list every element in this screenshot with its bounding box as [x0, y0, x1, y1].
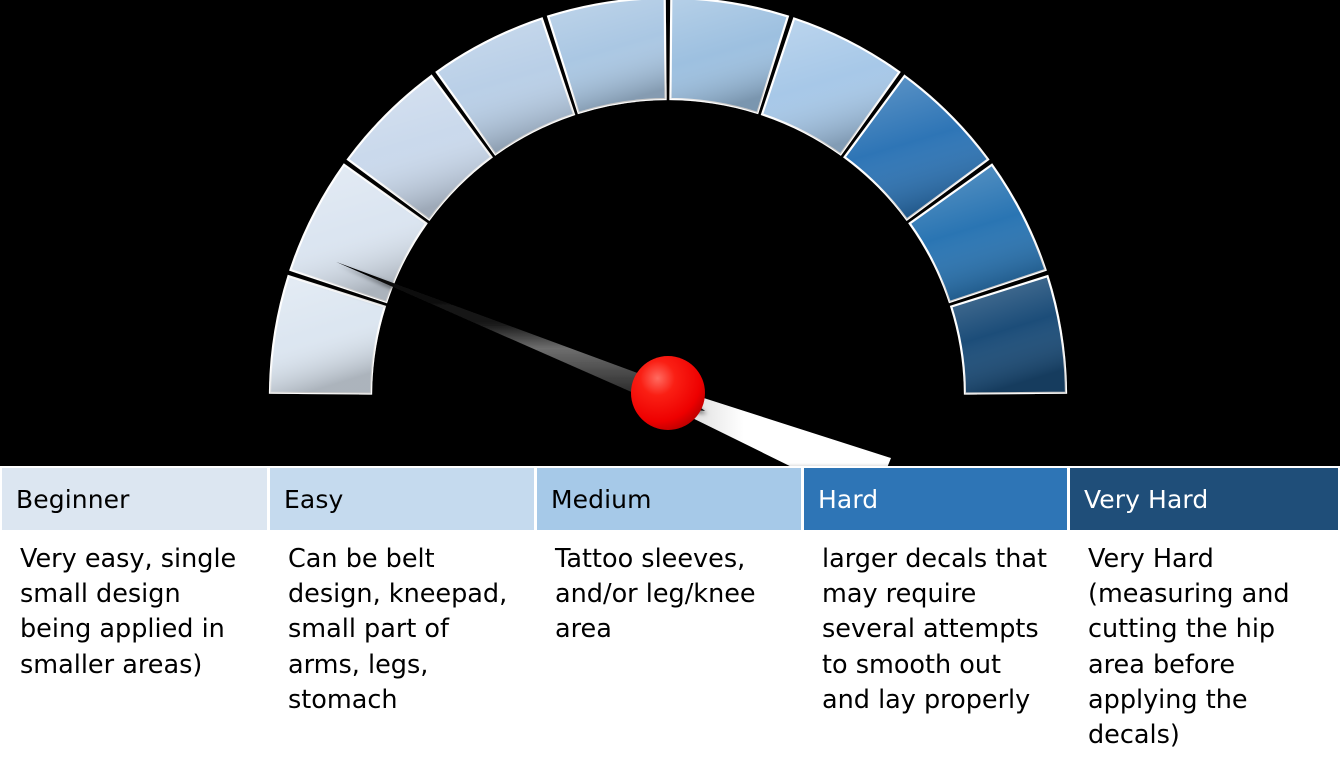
table-inner: Beginner Easy Medium Hard Very Hard Very… — [2, 468, 1338, 764]
table-cell-beginner-description: Very easy, single small design being app… — [2, 530, 270, 764]
table-body-row: Very easy, single small design being app… — [2, 530, 1338, 764]
table-header-label: Medium — [551, 485, 652, 514]
table-header-cell-easy: Easy — [270, 468, 537, 530]
table-header-label: Easy — [284, 485, 343, 514]
table-header-row: Beginner Easy Medium Hard Very Hard — [2, 468, 1338, 530]
table-header-label: Very Hard — [1084, 485, 1208, 514]
gauge-svg — [0, 0, 1340, 470]
table-cell-very-hard-description: Very Hard (measuring and cutting the hip… — [1070, 530, 1338, 764]
table-header-cell-beginner: Beginner — [2, 468, 270, 530]
table-header-label: Hard — [818, 485, 878, 514]
table-header-cell-very-hard: Very Hard — [1070, 468, 1338, 530]
difficulty-table: Beginner Easy Medium Hard Very Hard Very… — [0, 466, 1340, 767]
gauge-chart — [0, 0, 1340, 470]
table-cell-easy-description: Can be belt design, kneepad, small part … — [270, 530, 537, 764]
gauge-needle-group — [336, 262, 891, 470]
table-header-label: Beginner — [16, 485, 130, 514]
table-header-cell-medium: Medium — [537, 468, 804, 530]
table-cell-medium-description: Tattoo sleeves, and/or leg/knee area — [537, 530, 804, 764]
table-header-cell-hard: Hard — [804, 468, 1070, 530]
gauge-segment-group — [270, 0, 1066, 394]
gauge-pivot-ball — [631, 356, 705, 430]
table-cell-hard-description: larger decals that may require several a… — [804, 530, 1070, 764]
